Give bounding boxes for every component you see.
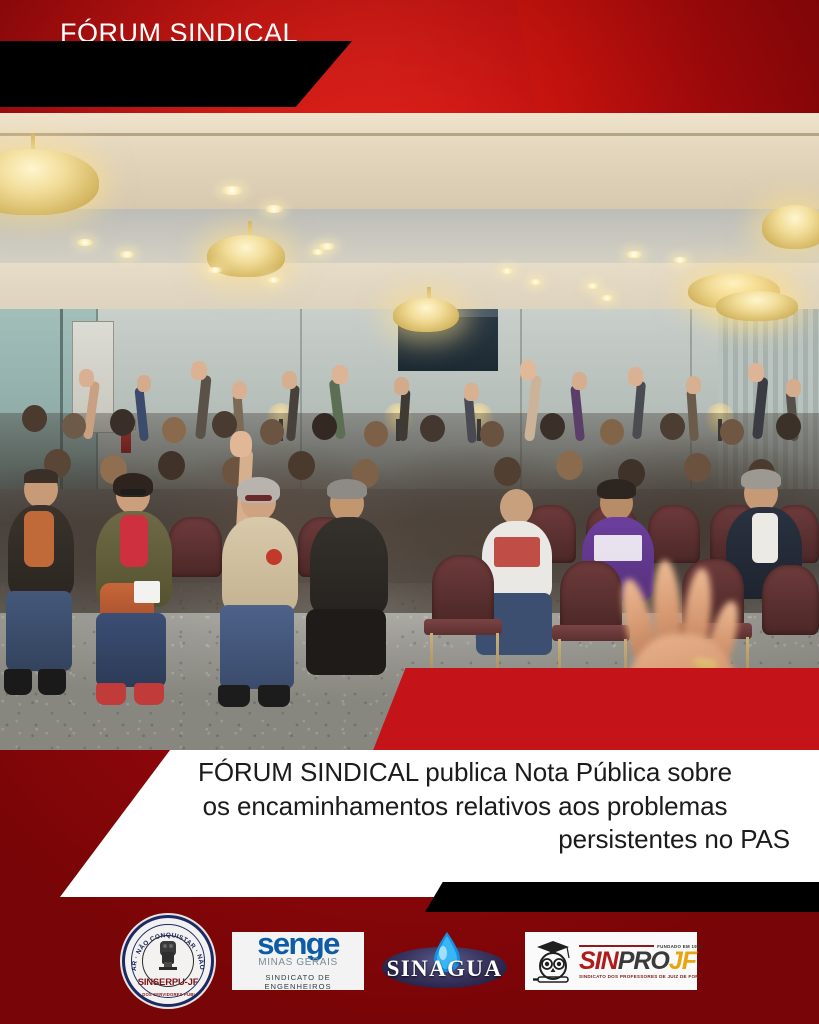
crowd-head	[540, 413, 565, 440]
sinpro-part-sin: SIN	[579, 947, 618, 975]
sinpro-part-pro: PRO	[618, 947, 669, 975]
chair-seat	[424, 619, 502, 635]
seated-person-hair	[24, 469, 58, 483]
crowd-head	[62, 413, 86, 439]
poster-canvas: FÓRUM SINDICAL	[0, 0, 819, 1024]
chandelier-right-lower	[716, 291, 798, 321]
downlight	[264, 205, 284, 213]
seated-person-head	[500, 489, 533, 525]
assembly-photograph	[0, 113, 819, 750]
crowd-head	[420, 415, 445, 442]
raised-hand	[79, 369, 94, 387]
raised-hand	[230, 431, 252, 457]
seated-person-sweater	[222, 517, 298, 613]
paper-sheet	[134, 581, 160, 603]
seal-tagline: SIND. DOS SERVIDORES PÚBLICOS	[125, 992, 211, 997]
raised-hand	[572, 372, 587, 390]
sneaker	[218, 685, 250, 707]
downlight	[207, 267, 223, 273]
subhead-white-panel: FÓRUM SINDICAL publica Nota Pública sobr…	[60, 750, 819, 897]
senge-region: MINAS GERAIS	[238, 957, 358, 968]
sinpro-wordmark: SINPROJF	[579, 950, 702, 973]
downlight	[266, 277, 281, 283]
subhead-line-1: FÓRUM SINDICAL publica Nota Pública sobr…	[140, 756, 790, 790]
logo-footer: NÃO LUTAR · NÃO CONQUISTAR · NÃO NASCER …	[0, 897, 819, 1024]
seated-person-shoe	[4, 669, 32, 695]
raised-hand	[332, 365, 348, 384]
backpack	[306, 609, 386, 675]
seated-person-hair	[327, 479, 367, 499]
raised-fist-icon	[151, 938, 185, 972]
headline-banner	[372, 668, 819, 753]
senge-wordmark: senge	[238, 931, 358, 956]
ceiling-trim-line	[0, 133, 819, 136]
raised-hand	[786, 379, 801, 397]
downlight	[500, 268, 514, 274]
chandelier-center	[393, 298, 459, 332]
raised-hand	[464, 383, 479, 401]
sneaker	[258, 685, 290, 707]
header-black-tag	[0, 41, 352, 107]
banquet-chair	[168, 517, 222, 577]
crowd-head	[288, 451, 315, 480]
raised-hand	[282, 371, 297, 389]
sinpro-text-block: FUNDADO EM 1934 SINPROJF SINDICATO DOS P…	[579, 944, 702, 979]
downlight	[76, 239, 94, 246]
sinpro-part-jf: JF	[669, 947, 696, 975]
logo-senge-mg[interactable]: senge MINAS GERAIS SINDICATO DE ENGENHEI…	[232, 932, 364, 990]
crowd-head	[660, 413, 685, 440]
seated-person-shirt	[120, 515, 148, 567]
downlight	[529, 279, 542, 285]
downlight	[672, 257, 688, 263]
downlight	[600, 295, 614, 301]
lapel-button	[266, 549, 282, 565]
downlight	[220, 186, 244, 195]
owl-graduate-icon	[531, 938, 575, 984]
seated-person-jeans	[6, 591, 72, 671]
eyeglasses	[120, 489, 146, 495]
crowd-head	[260, 419, 284, 445]
crowd-head	[776, 413, 801, 440]
downlight	[311, 249, 325, 255]
crowd-head	[158, 451, 185, 480]
crowd-head	[600, 419, 624, 445]
seal-org-name: SINSERPU-JF	[125, 977, 211, 988]
logo-row: NÃO LUTAR · NÃO CONQUISTAR · NÃO NASCER …	[0, 917, 819, 1005]
crowd-head	[22, 405, 47, 432]
raised-hand	[628, 367, 643, 386]
red-sneaker	[96, 683, 126, 705]
seated-person-hair	[741, 469, 781, 489]
seated-person-hair	[597, 479, 636, 499]
crowd-head	[494, 457, 521, 486]
crowd-head	[364, 421, 388, 447]
crowd-head	[312, 413, 337, 440]
downlight	[119, 251, 135, 258]
crowd-head	[480, 421, 504, 447]
seated-person-jeans	[220, 605, 294, 689]
crowd-head	[684, 453, 711, 482]
eyeglasses	[245, 495, 272, 501]
crowd-head	[720, 419, 744, 445]
red-sneaker	[134, 683, 164, 705]
raised-hand	[394, 377, 409, 395]
subhead-line-2: os encaminhamentos relativos aos problem…	[140, 790, 790, 824]
chandelier-far-right	[762, 205, 819, 249]
banquet-chair	[648, 505, 700, 563]
shirt-print	[494, 537, 540, 567]
seated-person-jacket	[310, 517, 388, 615]
ceiling-upper	[0, 113, 819, 209]
seated-person-shoe	[38, 669, 66, 695]
downlight	[625, 251, 643, 258]
senge-subtitle: SINDICATO DE ENGENHEIROS	[238, 973, 358, 991]
raised-hand	[137, 375, 151, 392]
raised-hand	[748, 363, 764, 382]
sinagua-wordmark: SINAGUA	[382, 956, 507, 982]
seated-person-shirt	[24, 511, 54, 567]
raised-hand	[520, 360, 536, 380]
logo-sinserpu-jf[interactable]: NÃO LUTAR · NÃO CONQUISTAR · NÃO NASCER …	[122, 915, 214, 1007]
crowd-head	[110, 409, 135, 436]
subhead-line-3: persistentes no PAS	[140, 823, 790, 857]
crowd-head	[556, 451, 583, 480]
downlight	[586, 283, 599, 289]
logo-sinpro-jf[interactable]: FUNDADO EM 1934 SINPROJF SINDICATO DOS P…	[525, 932, 697, 990]
crowd-head	[162, 417, 186, 443]
sinpro-subtitle: SINDICATO DOS PROFESSORES DE JUIZ DE FOR…	[579, 974, 702, 979]
subhead-text-block: FÓRUM SINDICAL publica Nota Pública sobr…	[140, 756, 790, 857]
banquet-chair	[432, 555, 494, 625]
logo-sinagua[interactable]: SINAGUA	[382, 931, 507, 991]
raised-hand	[232, 381, 247, 399]
raised-hand	[191, 361, 207, 380]
raised-hand	[686, 376, 701, 394]
seated-person-jeans	[96, 613, 166, 687]
